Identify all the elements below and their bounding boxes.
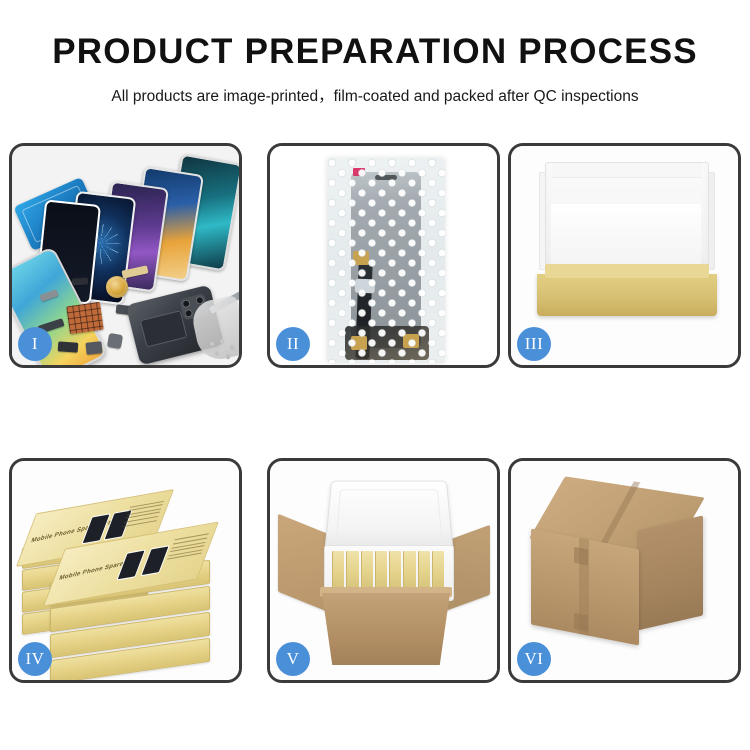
step-badge-6: VI: [517, 642, 551, 676]
connector-part: [58, 341, 79, 352]
process-step-2[interactable]: II: [267, 143, 500, 368]
process-step-3[interactable]: III: [508, 143, 741, 368]
carton-body: [322, 593, 450, 665]
process-step-4[interactable]: Mobile Phone Spare Parts Mobile Phone Sp…: [9, 458, 242, 683]
step-badge-2: II: [276, 327, 310, 361]
process-step-1[interactable]: I: [9, 143, 242, 368]
chip-array-part: [66, 302, 104, 334]
copper-coil-part: [106, 276, 128, 298]
foam-lid: [324, 481, 453, 552]
carton-front-face: [531, 529, 639, 646]
step-badge-3: III: [517, 327, 551, 361]
bubble-wrap-bag: [327, 158, 445, 363]
box-print-textlines: [122, 500, 165, 529]
box-print-textlines: [166, 534, 209, 563]
carton-flap-tab: [574, 613, 588, 632]
carton-side-face: [637, 515, 703, 630]
battery-part: [140, 310, 188, 347]
connector-part: [85, 341, 102, 355]
step-badge-5: V: [276, 642, 310, 676]
header: PRODUCT PREPARATION PROCESS All products…: [0, 0, 750, 106]
carton-flap-tab: [574, 546, 588, 565]
button-strip-part: [72, 277, 88, 285]
page-subtitle: All products are image-printed，film-coat…: [0, 71, 750, 106]
infographic-page: PRODUCT PREPARATION PROCESS All products…: [0, 0, 750, 750]
camera-module-part: [107, 333, 123, 349]
bubble-texture: [327, 158, 445, 363]
yellow-box-tray: [537, 274, 717, 316]
page-title: PRODUCT PREPARATION PROCESS: [0, 0, 750, 71]
process-step-5[interactable]: V: [267, 458, 500, 683]
process-step-grid: I II: [9, 143, 741, 683]
stacked-retail-boxes: Mobile Phone Spare Parts Mobile Phone Sp…: [18, 487, 238, 677]
process-step-6[interactable]: VI: [508, 458, 741, 683]
step-badge-1: I: [18, 327, 52, 361]
step-badge-4: IV: [18, 642, 52, 676]
